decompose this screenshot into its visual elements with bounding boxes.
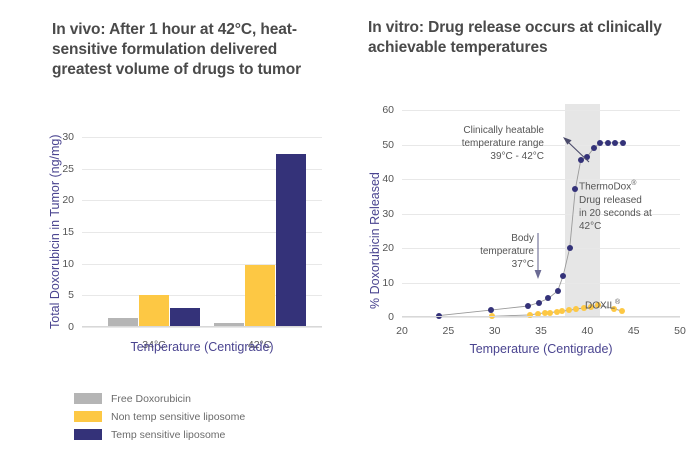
data-point-thermodox <box>584 154 590 160</box>
y-tick-label: 30 <box>46 131 74 143</box>
annotation-thermodox-body: Drug released in 20 seconds at 42°C <box>579 194 689 234</box>
x-tick-label: 50 <box>674 325 686 337</box>
in-vitro-x-axis <box>402 316 680 317</box>
x-tick-label: 25 <box>442 325 454 337</box>
in-vivo-bars <box>82 137 322 327</box>
legend-item[interactable]: Free Doxorubicin <box>74 392 245 405</box>
y-tick-label: 5 <box>46 289 74 301</box>
data-point-thermodox <box>620 140 626 146</box>
gridline <box>402 317 680 318</box>
legend-swatch <box>74 393 102 404</box>
data-point-thermodox <box>597 140 603 146</box>
in-vivo-legend: Free DoxorubicinNon temp sensitive lipos… <box>74 392 245 446</box>
data-point-thermodox <box>612 140 618 146</box>
legend-swatch <box>74 411 102 422</box>
legend-label: Non temp sensitive liposome <box>111 411 245 423</box>
legend-swatch <box>74 429 102 440</box>
bar-42c-temp-sensitive-liposome <box>276 154 306 327</box>
x-tick-label: 40 <box>581 325 593 337</box>
legend-item[interactable]: Non temp sensitive liposome <box>74 410 245 423</box>
data-point-thermodox <box>488 307 494 313</box>
y-tick-label: 40 <box>366 173 394 185</box>
legend-label: Free Doxorubicin <box>111 393 191 405</box>
in-vitro-panel: In vitro: Drug release occurs at clinica… <box>352 0 699 462</box>
in-vivo-x-axis-label: Temperature (Centigrade) <box>82 340 322 354</box>
annotation-body-temperature: Body temperature 37°C <box>412 232 534 272</box>
y-tick-label: 20 <box>366 242 394 254</box>
data-point-thermodox <box>591 145 597 151</box>
annotation-thermodox: ThermoDox® Drug released in 20 seconds a… <box>579 166 689 246</box>
legend-label: Temp sensitive liposome <box>111 429 225 441</box>
y-tick-label: 0 <box>46 321 74 333</box>
x-tick-label: 20 <box>396 325 408 337</box>
y-tick-label: 25 <box>46 163 74 175</box>
data-point-thermodox <box>525 303 531 309</box>
bar-34c-non-temp-sensitive-liposome <box>139 295 169 327</box>
bar-42c-non-temp-sensitive-liposome <box>245 265 275 327</box>
legend-item[interactable]: Temp sensitive liposome <box>74 428 245 441</box>
x-tick-label: 35 <box>535 325 547 337</box>
bar-34c-temp-sensitive-liposome <box>170 308 200 327</box>
data-point-thermodox <box>560 273 566 279</box>
data-point-doxil <box>559 308 565 314</box>
annotation-heatable-range: Clinically heatable temperature range 39… <box>392 124 544 164</box>
data-point-thermodox <box>536 300 542 306</box>
registered-mark-icon: ® <box>615 299 620 306</box>
in-vivo-title: In vivo: After 1 hour at 42°C, heat-sens… <box>52 20 320 79</box>
in-vivo-panel: In vivo: After 1 hour at 42°C, heat-sens… <box>0 0 352 462</box>
y-tick-label: 30 <box>366 208 394 220</box>
registered-mark-icon: ® <box>631 180 636 187</box>
annotation-thermodox-name: ThermoDox <box>579 182 631 193</box>
y-tick-label: 10 <box>366 277 394 289</box>
in-vivo-x-axis <box>82 326 322 327</box>
data-point-thermodox <box>578 157 584 163</box>
y-tick-label: 20 <box>46 194 74 206</box>
y-tick-label: 60 <box>366 104 394 116</box>
in-vivo-plot-area <box>82 137 322 327</box>
data-point-doxil <box>527 312 533 318</box>
data-point-thermodox <box>555 288 561 294</box>
in-vitro-x-axis-label: Temperature (Centigrade) <box>402 342 680 356</box>
x-tick-label: 30 <box>489 325 501 337</box>
y-tick-label: 0 <box>366 311 394 323</box>
y-tick-label: 50 <box>366 139 394 151</box>
annotation-doxil-name: DOXIL <box>585 301 615 312</box>
annotation-doxil: DOXIL® <box>585 285 665 313</box>
data-point-doxil <box>547 310 553 316</box>
data-point-thermodox <box>572 186 578 192</box>
data-point-thermodox <box>545 295 551 301</box>
data-point-doxil <box>566 307 572 313</box>
in-vitro-title: In vitro: Drug release occurs at clinica… <box>368 18 668 58</box>
data-point-thermodox <box>567 245 573 251</box>
y-tick-label: 10 <box>46 258 74 270</box>
data-point-doxil <box>573 306 579 312</box>
data-point-thermodox <box>605 140 611 146</box>
y-tick-label: 15 <box>46 226 74 238</box>
gridline <box>82 327 322 328</box>
x-tick-label: 45 <box>628 325 640 337</box>
